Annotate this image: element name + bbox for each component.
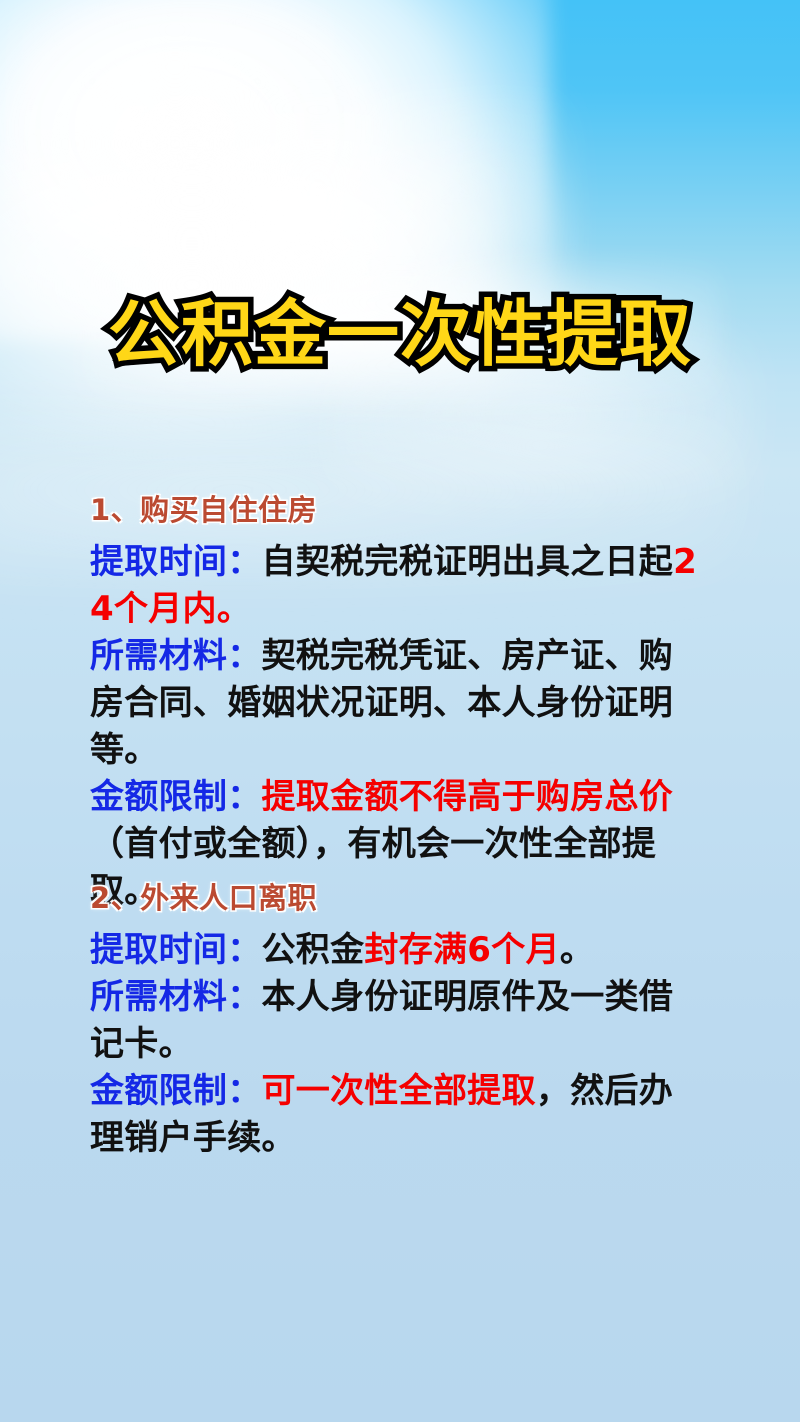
info-item-required-materials: 所需材料：契税完税凭证、房产证、购房合同、婚姻状况证明、本人身份证明等。 — [90, 633, 702, 774]
section-heading: 1、购买自住住房 — [90, 492, 702, 530]
poster-content: 公积金一次性提取 1、购买自住住房 提取时间：自契税完税证明出具之日起24个月内… — [0, 0, 800, 1422]
section-purchase-home: 1、购买自住住房 提取时间：自契税完税证明出具之日起24个月内。 所需材料：契税… — [90, 492, 702, 915]
item-text-black-tail: 。 — [560, 930, 594, 970]
info-item-withdraw-time: 提取时间：自契税完税证明出具之日起24个月内。 — [90, 539, 702, 633]
item-text-highlight: 封存满6个月 — [364, 930, 559, 970]
info-item-amount-limit: 金额限制：可一次性全部提取，然后办理销户手续。 — [90, 1068, 702, 1162]
poster-canvas: 公积金一次性提取 1、购买自住住房 提取时间：自契税完税证明出具之日起24个月内… — [0, 0, 800, 1422]
item-label: 所需材料： — [90, 636, 262, 676]
item-label: 金额限制： — [90, 777, 262, 817]
item-text-black: 自契税完税证明出具之日起 — [262, 542, 674, 582]
item-label: 提取时间： — [90, 930, 262, 970]
section-nonlocal-resignation: 2、外来人口离职 提取时间：公积金封存满6个月。 所需材料：本人身份证明原件及一… — [90, 880, 702, 1162]
item-text-highlight: 可一次性全部提取 — [262, 1071, 536, 1111]
item-label: 提取时间： — [90, 542, 262, 582]
info-item-required-materials: 所需材料：本人身份证明原件及一类借记卡。 — [90, 974, 702, 1068]
item-label: 金额限制： — [90, 1071, 262, 1111]
item-text-black: 公积金 — [262, 930, 365, 970]
item-text-highlight: 提取金额不得高于购房总价 — [262, 777, 674, 817]
title-block: 公积金一次性提取 — [0, 296, 800, 374]
section-heading: 2、外来人口离职 — [90, 880, 702, 918]
page-title: 公积金一次性提取 — [108, 296, 692, 374]
info-item-withdraw-time: 提取时间：公积金封存满6个月。 — [90, 927, 702, 974]
item-label: 所需材料： — [90, 977, 262, 1017]
